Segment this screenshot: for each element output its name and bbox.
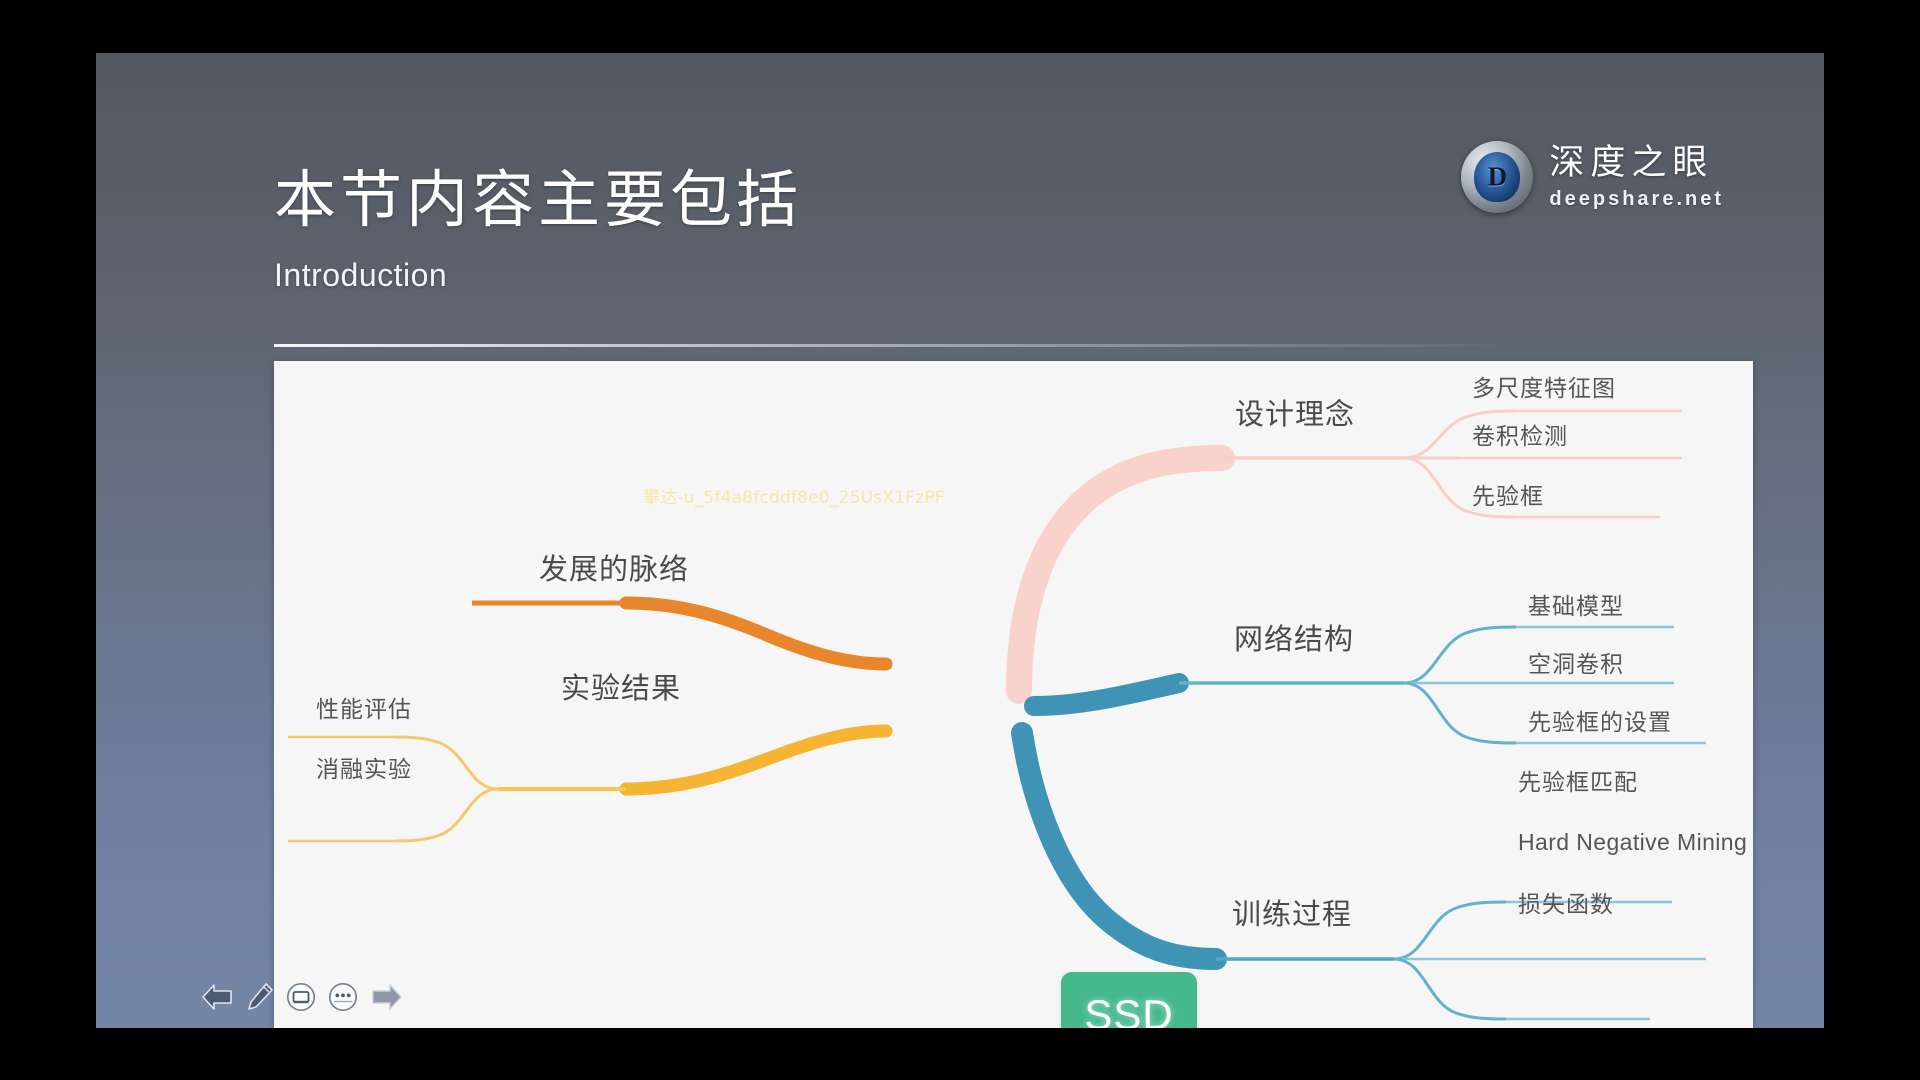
slide-toolbar[interactable] <box>200 982 404 1012</box>
mindmap-card: 攀达-u_5f4a8fcddf8e0_25UsX1FzPF SSD 设计理念 网… <box>274 361 1753 1028</box>
slide-heading-block: 本节内容主要包括 Introduction <box>274 168 802 294</box>
mindmap-leaf-dilated-conv[interactable]: 空洞卷积 <box>1528 653 1624 676</box>
arrow-right-icon[interactable] <box>370 982 404 1012</box>
mindmap-branch-experiment-results[interactable]: 实验结果 <box>561 675 681 704</box>
brand-text: 深度之眼 deepshare.net <box>1549 145 1724 209</box>
mindmap-center-node[interactable]: SSD <box>1061 972 1197 1028</box>
presentation-slide: 本节内容主要包括 Introduction D 深度之眼 deepshare.n… <box>96 53 1824 1028</box>
screen-icon[interactable] <box>286 982 316 1012</box>
mindmap-watermark: 攀达-u_5f4a8fcddf8e0_25UsX1FzPF <box>643 483 945 508</box>
mindmap-leaf-conv-detection[interactable]: 卷积检测 <box>1472 425 1568 448</box>
mindmap-leaf-prior-box-matching[interactable]: 先验框匹配 <box>1518 771 1638 794</box>
mindmap-branch-network-structure[interactable]: 网络结构 <box>1234 626 1354 655</box>
brand-name-en: deepshare.net <box>1549 189 1724 209</box>
mindmap-leaf-loss-function[interactable]: 损失函数 <box>1518 893 1614 916</box>
mindmap-branch-training-process[interactable]: 训练过程 <box>1232 901 1352 930</box>
title-divider <box>274 344 1514 347</box>
mindmap-leaf-multiscale-feature-map[interactable]: 多尺度特征图 <box>1472 377 1616 400</box>
video-player-frame: 本节内容主要包括 Introduction D 深度之眼 deepshare.n… <box>0 0 1920 1080</box>
mindmap-branch-development-history[interactable]: 发展的脉络 <box>539 556 689 585</box>
ellipsis-icon[interactable] <box>328 982 358 1012</box>
page-title: 本节内容主要包括 <box>274 168 802 235</box>
mindmap-leaf-base-model[interactable]: 基础模型 <box>1528 595 1624 618</box>
mindmap-center-label: SSD <box>1084 991 1173 1028</box>
brand-name-cn: 深度之眼 <box>1549 145 1724 180</box>
mindmap-leaf-performance-evaluation[interactable]: 性能评估 <box>316 698 412 721</box>
pencil-icon[interactable] <box>246 982 274 1012</box>
mindmap-leaf-prior-box[interactable]: 先验框 <box>1472 485 1544 508</box>
mindmap-leaf-hard-negative-mining[interactable]: Hard Negative Mining <box>1518 831 1747 854</box>
sphere-eye-logo-icon: D <box>1461 141 1533 213</box>
mindmap-branch-design-philosophy[interactable]: 设计理念 <box>1235 401 1355 430</box>
mindmap-leaf-ablation-study[interactable]: 消融实验 <box>316 758 412 781</box>
mindmap-connectors <box>274 361 1753 1028</box>
arrow-left-icon[interactable] <box>200 982 234 1012</box>
mindmap-leaf-prior-box-setting[interactable]: 先验框的设置 <box>1528 711 1672 734</box>
brand-logo: D 深度之眼 deepshare.net <box>1461 141 1724 213</box>
brand-mark-letter: D <box>1461 162 1533 193</box>
slide-subtitle: Introduction <box>274 257 802 294</box>
